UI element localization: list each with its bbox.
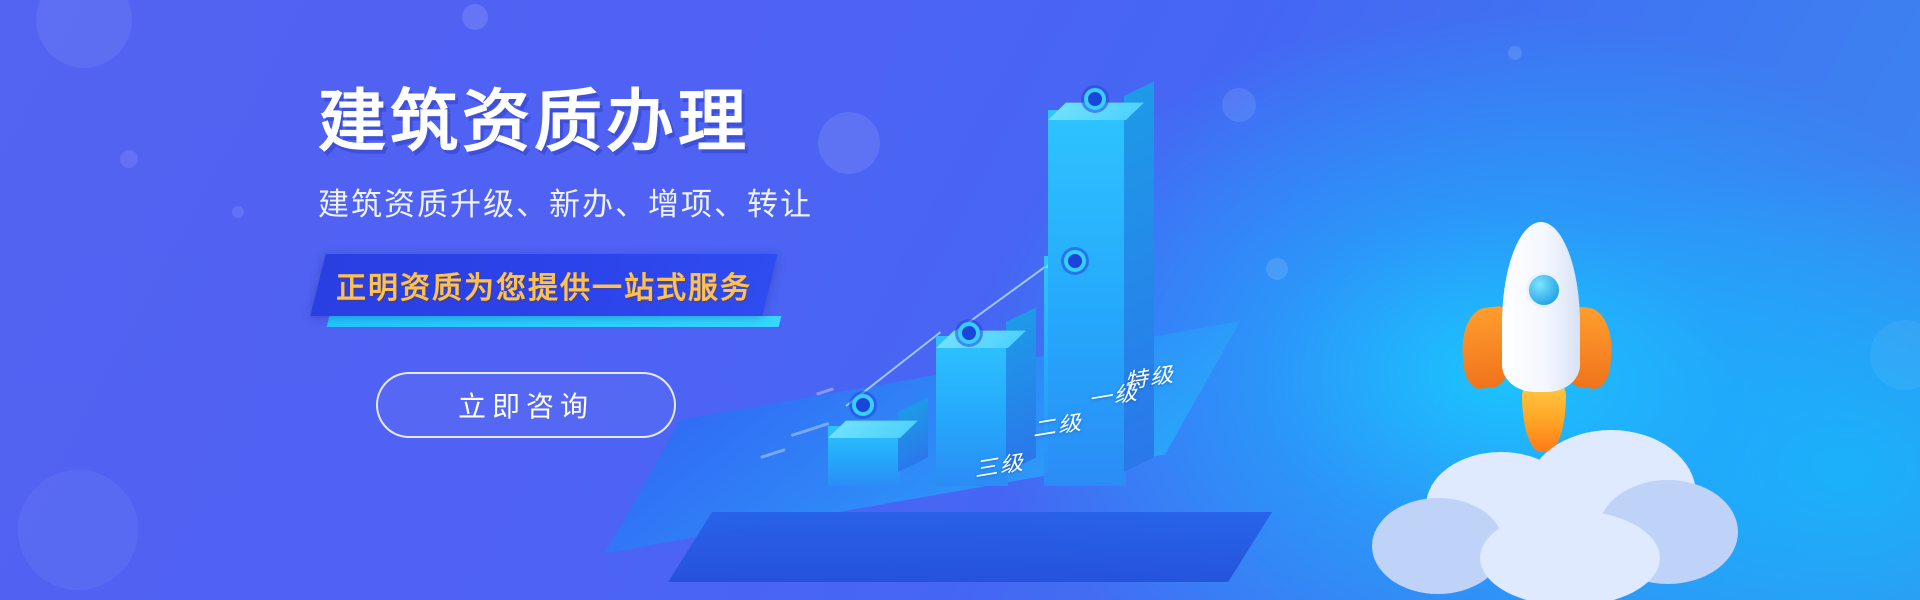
rocket-window-icon	[1526, 272, 1562, 308]
rocket-illustration	[1330, 180, 1750, 600]
consult-now-button[interactable]: 立即咨询	[376, 372, 676, 438]
bokeh-circle	[120, 150, 138, 168]
platform-front-face	[668, 512, 1272, 582]
bokeh-circle	[1870, 320, 1920, 390]
banner-subtitle: 建筑资质升级、新办、增项、转让	[318, 179, 938, 224]
page-title: 建筑资质办理	[318, 86, 938, 159]
bokeh-circle	[232, 206, 244, 218]
data-point-node-icon	[1064, 250, 1086, 272]
tagline-underline	[327, 316, 782, 327]
hero-banner: 建筑资质办理 建筑资质升级、新办、增项、转让 正明资质为您提供一站式服务 立即咨…	[0, 0, 1920, 600]
bokeh-circle	[1508, 46, 1522, 60]
tagline-text: 正明资质为您提供一站式服务	[318, 254, 770, 316]
cloud-icon	[1480, 510, 1660, 600]
data-point-node-icon	[958, 322, 980, 344]
tagline-banner: 正明资质为您提供一站式服务	[318, 254, 770, 316]
bar-side-face	[1124, 81, 1154, 472]
bokeh-circle	[36, 0, 132, 68]
bokeh-circle	[18, 470, 138, 590]
data-point-node-icon	[1084, 88, 1106, 110]
banner-copy: 建筑资质办理 建筑资质升级、新办、增项、转让 正明资质为您提供一站式服务 立即咨…	[318, 86, 938, 438]
bokeh-circle	[462, 4, 488, 30]
